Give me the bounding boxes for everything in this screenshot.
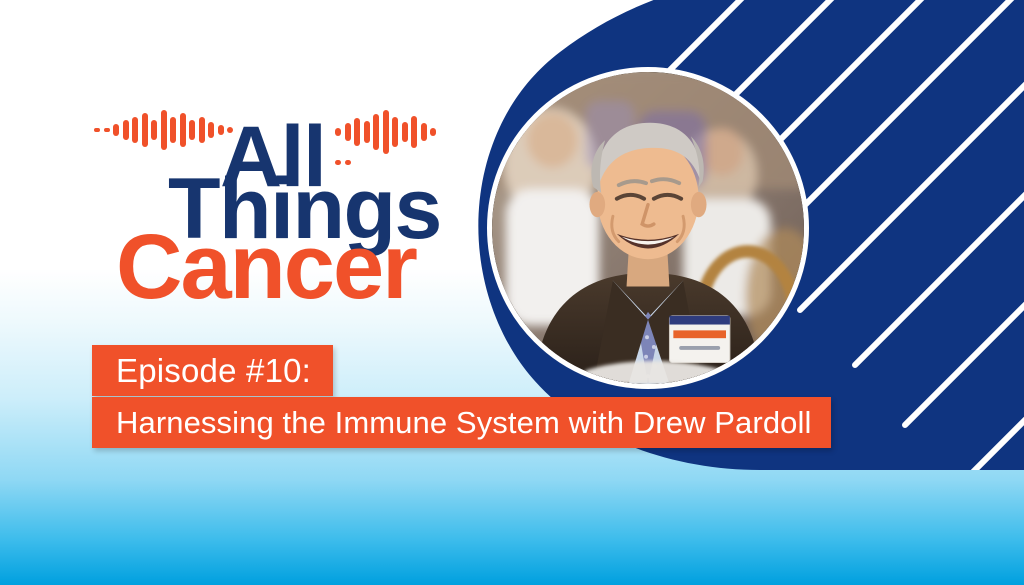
name-badge — [669, 316, 729, 363]
episode-number-label: Episode #10: — [116, 352, 311, 390]
waveform-bar — [364, 121, 370, 143]
waveform-bar — [430, 128, 436, 136]
waveform-bar — [180, 113, 186, 147]
waveform-bar — [335, 128, 341, 136]
waveform-bar — [411, 116, 417, 148]
waveform-bar — [402, 122, 408, 142]
waveform-bar — [383, 110, 389, 154]
waveform-bar — [345, 123, 351, 141]
waveform-bar — [132, 117, 138, 143]
waveform-bar — [123, 120, 129, 140]
waveform-bar — [151, 120, 157, 140]
episode-title-text: Harnessing the Immune System with Drew P… — [116, 405, 811, 441]
waveform-bar — [94, 128, 100, 132]
podcast-logo: All Things Cancer — [92, 96, 442, 301]
waveform-bar — [170, 117, 176, 143]
waveform-bar — [373, 114, 379, 150]
waveform-bar — [392, 117, 398, 147]
waveform-left-icon — [94, 110, 237, 150]
logo-line-cancer: Cancer — [116, 221, 416, 313]
episode-title-banner: Harnessing the Immune System with Drew P… — [92, 397, 831, 448]
waveform-bar — [354, 118, 360, 146]
guest-portrait — [487, 67, 809, 389]
waveform-bar — [142, 113, 148, 147]
episode-number-banner: Episode #10: — [92, 345, 333, 396]
episode-cover-graphic: All Things Cancer Episode #10: Harnessin… — [0, 0, 1024, 585]
waveform-bar — [113, 124, 119, 136]
waveform-bar — [189, 120, 195, 140]
guest-portrait-image — [492, 72, 804, 384]
waveform-bar — [421, 123, 427, 141]
waveform-bar — [199, 117, 205, 143]
waveform-bar — [208, 122, 214, 138]
waveform-bar — [104, 128, 110, 132]
waveform-bar — [161, 110, 167, 150]
